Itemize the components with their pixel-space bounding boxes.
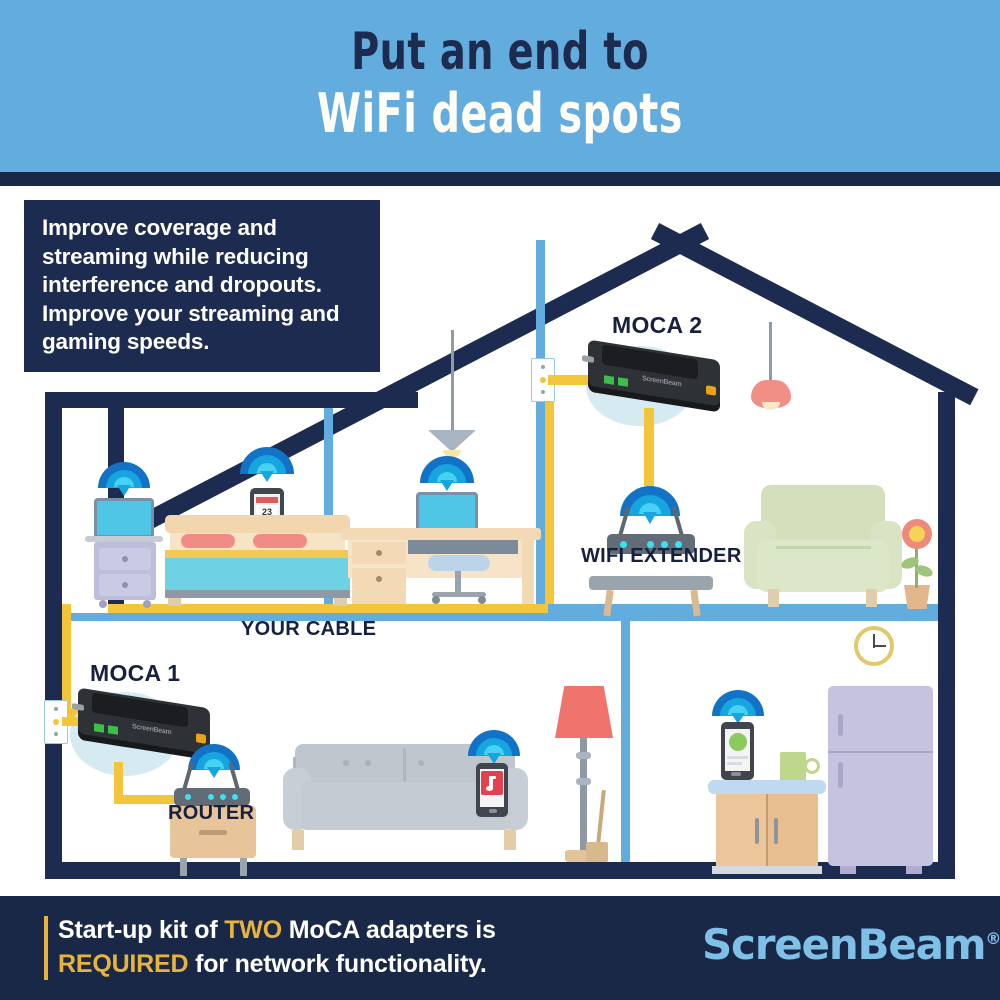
wifi-icon-bedroom-phone (240, 447, 294, 479)
wifi-icon-kitchen-phone (712, 690, 764, 720)
footer-accent-bar (44, 916, 48, 980)
moca2-label: MOCA 2 (612, 312, 702, 339)
intro-paragraph: Improve coverage and streaming while red… (42, 214, 364, 357)
registered-trademark-icon: ® (985, 929, 1000, 948)
router-table-leg-left (180, 858, 187, 876)
intro-text-box: Improve coverage and streaming while red… (24, 200, 380, 372)
footer-line1-b: MoCA adapters is (282, 916, 496, 944)
router-table-leg-right (240, 858, 247, 876)
ethernet-riser-cable (536, 240, 545, 604)
wifi-icon-extender (620, 486, 680, 520)
header-title-line2: WiFi dead spots (90, 82, 910, 145)
pendant-cord-gray (451, 330, 454, 434)
coax-moca2-to-extender (644, 408, 654, 486)
header-title-line1: Put an end to (90, 22, 910, 82)
coax-riser-cable (545, 380, 554, 604)
footer-two-highlight: TWO (224, 916, 282, 944)
wall-right-outer (938, 392, 955, 879)
wifi-extender-label: WIFI EXTENDER (581, 545, 742, 568)
pendant-lamp-gray (428, 430, 476, 452)
screenbeam-logo: ScreenBeam® (702, 920, 1000, 969)
moca-adapter-2: ScreenBeam (580, 342, 726, 408)
wall-left-outer (45, 392, 62, 879)
wifi-icon-desk-laptop (420, 456, 474, 488)
header-divider (0, 172, 1000, 186)
pendant-cord-red (769, 322, 772, 384)
footer-line2-b: for network functionality. (188, 950, 486, 978)
wifi-icon-sofa-phone (468, 730, 520, 760)
router-label: ROUTER (168, 802, 254, 825)
wifi-icon-bedroom-laptop (98, 462, 150, 492)
router-table-handle (199, 830, 227, 835)
router-antenna-left (182, 762, 194, 790)
your-cable-label: YOUR CABLE (241, 618, 376, 641)
footer-line1-a: Start-up kit of (58, 916, 224, 944)
moca1-label: MOCA 1 (90, 660, 180, 687)
screenbeam-logo-text: ScreenBeam (702, 920, 985, 969)
floor-divider-upper (62, 613, 938, 621)
footer-text: Start-up kit of TWO MoCA adapters is REQ… (58, 914, 618, 982)
wall-kitchen-divider (621, 621, 630, 862)
header-banner: Put an end to WiFi dead spots (0, 0, 1000, 172)
infographic-page: Put an end to WiFi dead spots Improve co… (0, 0, 1000, 1000)
pendant-glow-red (762, 402, 780, 410)
extender-table-top (589, 576, 713, 590)
footer-required-highlight: REQUIRED (58, 950, 188, 978)
